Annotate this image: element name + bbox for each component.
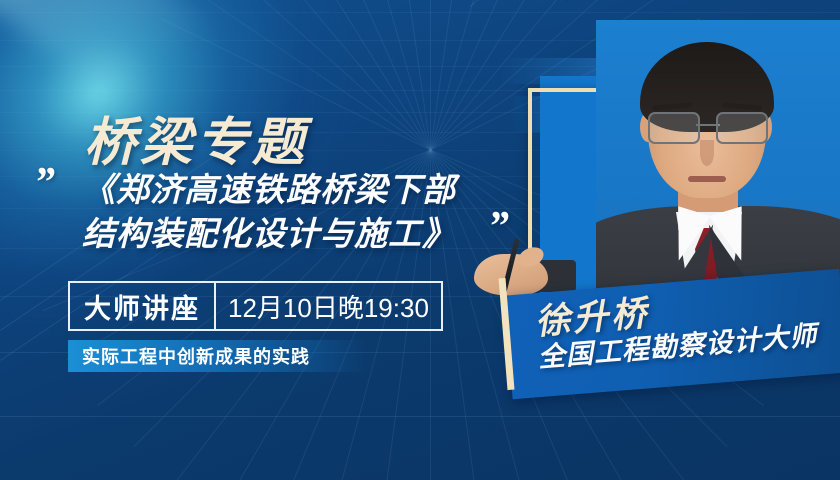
webinar-poster: 徐升桥 全国工程勘察设计大师 桥梁专题 ” ” 《郑济高速铁路桥梁下部 结构装配…	[0, 0, 840, 480]
lecture-type-label: 大师讲座	[70, 283, 214, 329]
lecture-info-box: 大师讲座 12月10日晚19:30	[68, 281, 443, 331]
lecture-subtitle-line1: 《郑济高速铁路桥梁下部	[82, 168, 502, 212]
lecture-subtitle: 《郑济高速铁路桥梁下部 结构装配化设计与施工》	[82, 168, 502, 255]
page-title: 桥梁专题	[84, 100, 308, 175]
quote-open-icon: ”	[34, 162, 52, 204]
photo-nose	[700, 140, 714, 166]
lecture-subtitle-line2: 结构装配化设计与施工》	[82, 212, 502, 256]
tagline-text: 实际工程中创新成果的实践	[68, 343, 310, 369]
lecture-datetime: 12月10日晚19:30	[216, 283, 441, 329]
tagline-bar: 实际工程中创新成果的实践	[68, 340, 368, 372]
photo-mouth	[688, 176, 726, 182]
glasses-icon	[646, 112, 770, 142]
